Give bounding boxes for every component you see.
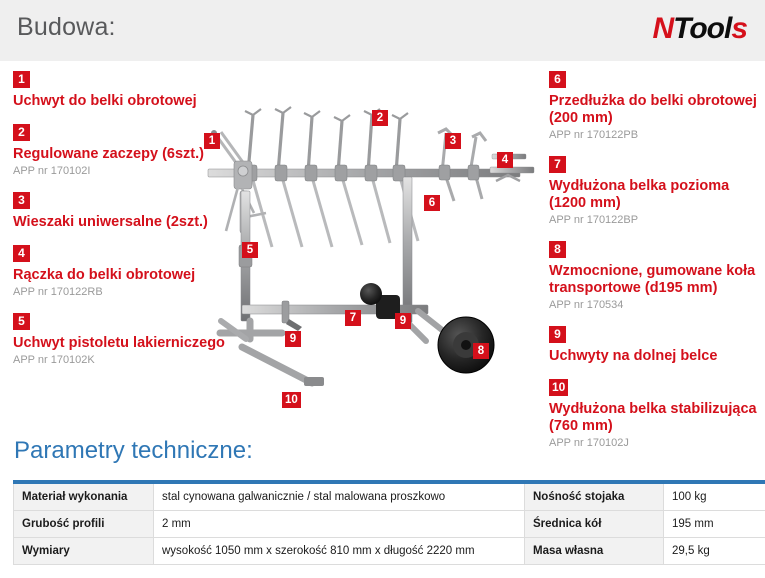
feature-code-8: APP nr 170534 xyxy=(549,298,759,312)
photo-callout-4: 4 xyxy=(497,152,513,168)
feature-title-10: Wydłużona belka stabilizująca (760 mm) xyxy=(549,401,759,435)
photo-callout-6: 6 xyxy=(424,195,440,211)
product-info-page: Budowa: NTools 1 Uchwyt do belki obrotow… xyxy=(0,0,765,578)
feature-code-6: APP nr 170122PB xyxy=(549,128,759,142)
feature-badge-4: 4 xyxy=(13,245,30,262)
feature-badge-1: 1 xyxy=(13,71,30,88)
feature-badge-2: 2 xyxy=(13,124,30,141)
feature-badge-10: 10 xyxy=(549,379,568,396)
photo-callout-3: 3 xyxy=(445,133,461,149)
feature-item-8: 8 Wzmocnione, gumowane koła transportowe… xyxy=(549,240,759,312)
spec-value-thickness: 2 mm xyxy=(154,511,525,538)
logo-s: s xyxy=(731,12,747,45)
product-photo: 1 2 3 4 5 6 7 8 9 9 10 xyxy=(190,95,540,420)
feature-title-8: Wzmocnione, gumowane koła transportowe (… xyxy=(549,263,759,297)
spec-label-dimensions: Wymiary xyxy=(14,538,154,565)
table-row: Wymiary wysokość 1050 mm x szerokość 810… xyxy=(14,538,765,565)
feature-badge-3: 3 xyxy=(13,192,30,209)
feature-title-7: Wydłużona belka pozioma (1200 mm) xyxy=(549,178,759,212)
spec-value-wheel-diameter: 195 mm xyxy=(664,511,765,538)
photo-callout-1: 1 xyxy=(204,133,220,149)
spec-value-load: 100 kg xyxy=(664,482,765,511)
spec-label-wheel-diameter: Średnica kół xyxy=(525,511,664,538)
feature-badge-5: 5 xyxy=(13,313,30,330)
spec-value-weight: 29,5 kg xyxy=(664,538,765,565)
photo-callout-5: 5 xyxy=(242,242,258,258)
ntools-logo: NTools xyxy=(652,13,747,45)
feature-badge-6: 6 xyxy=(549,71,566,88)
feature-badge-8: 8 xyxy=(549,241,566,258)
feature-item-6: 6 Przedłużka do belki obrotowej (200 mm)… xyxy=(549,70,759,142)
spec-value-material: stal cynowana galwanicznie / stal malowa… xyxy=(154,482,525,511)
feature-list-right: 6 Przedłużka do belki obrotowej (200 mm)… xyxy=(549,70,759,463)
logo-tool: Tool xyxy=(673,12,731,45)
photo-callout-7: 7 xyxy=(345,310,361,326)
spec-label-weight: Masa własna xyxy=(525,538,664,565)
page-title: Budowa: xyxy=(17,13,116,42)
spec-table: Materiał wykonania stal cynowana galwani… xyxy=(13,480,765,565)
feature-item-10: 10 Wydłużona belka stabilizująca (760 mm… xyxy=(549,378,759,450)
section-title-parametry: Parametry techniczne: xyxy=(14,437,253,465)
spec-value-dimensions: wysokość 1050 mm x szerokość 810 mm x dł… xyxy=(154,538,525,565)
photo-callout-2: 2 xyxy=(372,110,388,126)
logo-n: N xyxy=(652,12,673,45)
feature-code-7: APP nr 170122BP xyxy=(549,213,759,227)
table-row: Materiał wykonania stal cynowana galwani… xyxy=(14,482,765,511)
photo-callout-10: 10 xyxy=(282,392,301,408)
photo-callout-9b: 9 xyxy=(395,313,411,329)
photo-callout-9a: 9 xyxy=(285,331,301,347)
table-row: Grubość profili 2 mm Średnica kół 195 mm xyxy=(14,511,765,538)
feature-title-9: Uchwyty na dolnej belce xyxy=(549,348,759,365)
feature-code-10: APP nr 170102J xyxy=(549,436,759,450)
spec-label-load: Nośność stojaka xyxy=(525,482,664,511)
spec-label-thickness: Grubość profili xyxy=(14,511,154,538)
page-header: Budowa: NTools xyxy=(0,0,765,61)
spec-label-material: Materiał wykonania xyxy=(14,482,154,511)
feature-title-6: Przedłużka do belki obrotowej (200 mm) xyxy=(549,93,759,127)
photo-callout-8: 8 xyxy=(473,343,489,359)
feature-badge-9: 9 xyxy=(549,326,566,343)
feature-badge-7: 7 xyxy=(549,156,566,173)
feature-item-7: 7 Wydłużona belka pozioma (1200 mm) APP … xyxy=(549,155,759,227)
feature-item-9: 9 Uchwyty na dolnej belce xyxy=(549,325,759,365)
